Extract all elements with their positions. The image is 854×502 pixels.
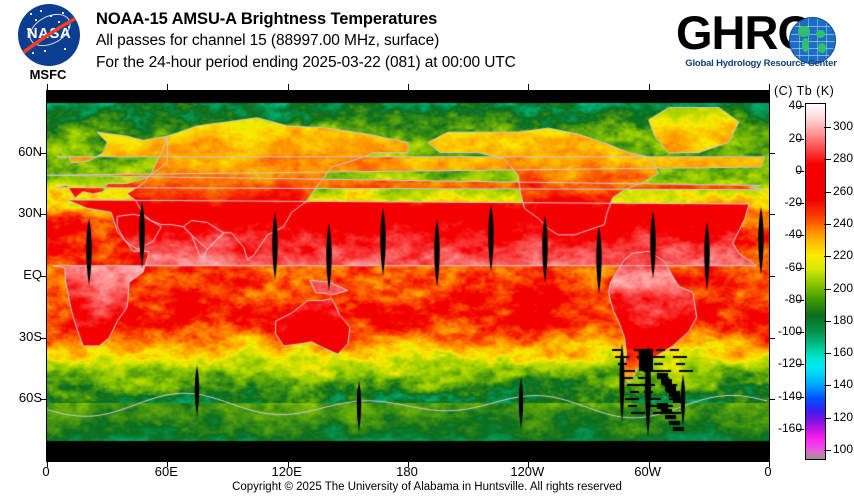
colorbar-label-kelvin: 260 bbox=[833, 184, 854, 198]
map-plot-frame[interactable] bbox=[46, 90, 770, 462]
copyright-notice: Copyright © 2025 The University of Alaba… bbox=[0, 481, 854, 493]
period-subtitle: For the 24-hour period ending 2025-03-22… bbox=[96, 52, 656, 74]
x-axis-label: 0 bbox=[16, 464, 76, 479]
x-axis-label: 60W bbox=[618, 464, 678, 479]
x-axis-label: 120E bbox=[257, 464, 317, 479]
colorbar-label-celsius: 0 bbox=[764, 163, 802, 177]
colorbar-label-kelvin: 180 bbox=[833, 313, 854, 327]
x-axis-tick bbox=[167, 84, 168, 90]
colorbar-tick-kelvin bbox=[824, 192, 831, 193]
colorbar-label-kelvin: 240 bbox=[833, 216, 854, 230]
colorbar-tick-kelvin bbox=[824, 224, 831, 225]
colorbar-tick-kelvin bbox=[824, 353, 831, 354]
nasa-logo: NASA MSFC bbox=[10, 4, 86, 84]
colorbar-label-celsius: -160 bbox=[764, 421, 802, 435]
colorbar-tick-kelvin bbox=[824, 127, 831, 128]
colorbar-label-kelvin: 200 bbox=[833, 281, 854, 295]
globe-icon bbox=[789, 17, 836, 64]
colorbar-label-celsius: -60 bbox=[764, 260, 802, 274]
colorbar-tick-kelvin bbox=[824, 418, 831, 419]
nasa-meatball-icon: NASA bbox=[18, 4, 80, 66]
colorbar-label-kelvin: 140 bbox=[833, 377, 854, 391]
colorbar-label-celsius: -40 bbox=[764, 227, 802, 241]
colorbar-label-celsius: -140 bbox=[764, 389, 802, 403]
x-axis-label: 120W bbox=[497, 464, 557, 479]
colorbar-label-celsius: -20 bbox=[764, 195, 802, 209]
colorbar-tick-kelvin bbox=[824, 159, 831, 160]
ghrc-logo: GHRC Global Hydrology Resource Center bbox=[676, 6, 844, 78]
colorbar-tick-kelvin bbox=[824, 321, 831, 322]
msfc-label: MSFC bbox=[10, 67, 86, 82]
y-axis-tick bbox=[769, 153, 775, 154]
y-axis-label: 60S bbox=[0, 390, 42, 405]
y-axis-label: 30S bbox=[0, 329, 42, 344]
x-axis-tick bbox=[528, 84, 529, 90]
brightness-temperature-map[interactable] bbox=[47, 91, 769, 461]
page-title: NOAA-15 AMSU-A Brightness Temperatures bbox=[96, 9, 656, 30]
x-axis-label: 60E bbox=[136, 464, 196, 479]
colorbar-label-kelvin: 160 bbox=[833, 345, 854, 359]
y-axis-label: EQ bbox=[0, 267, 42, 282]
colorbar-label-kelvin: 100 bbox=[833, 442, 854, 456]
colorbar-label-kelvin: 300 bbox=[833, 119, 854, 133]
x-axis-tick bbox=[47, 84, 48, 90]
y-axis-tick bbox=[40, 276, 46, 277]
y-axis-labels: 60N30NEQ30S60S bbox=[0, 90, 42, 460]
y-axis-tick bbox=[40, 214, 46, 215]
colorbar-header: (C) Tb (K) bbox=[774, 84, 854, 98]
colorbar-label-celsius: 40 bbox=[764, 98, 802, 112]
colorbar-label-celsius: -80 bbox=[764, 292, 802, 306]
colorbar-gradient[interactable] bbox=[805, 103, 826, 460]
x-axis-tick bbox=[769, 84, 770, 90]
colorbar-label-celsius: 20 bbox=[764, 131, 802, 145]
y-axis-tick bbox=[769, 276, 775, 277]
title-block: NOAA-15 AMSU-A Brightness Temperatures A… bbox=[96, 9, 656, 74]
page-header: NASA MSFC NOAA-15 AMSU-A Brightness Temp… bbox=[0, 0, 854, 88]
colorbar-tick-kelvin bbox=[824, 385, 831, 386]
nasa-swoosh-icon bbox=[18, 10, 80, 62]
colorbar-label-kelvin: 280 bbox=[833, 151, 854, 165]
channel-subtitle: All passes for channel 15 (88997.00 MHz,… bbox=[96, 30, 656, 52]
colorbar-label-celsius: -120 bbox=[764, 356, 802, 370]
colorbar-label-kelvin: 120 bbox=[833, 410, 854, 424]
x-axis-label: 180 bbox=[377, 464, 437, 479]
colorbar-tick-kelvin bbox=[824, 256, 831, 257]
colorbar-block: (C) Tb (K) 40200-20-40-60-80-100-120-140… bbox=[778, 84, 854, 469]
y-axis-tick bbox=[40, 399, 46, 400]
colorbar-tick-kelvin bbox=[824, 450, 831, 451]
colorbar-label-kelvin: 220 bbox=[833, 248, 854, 262]
ghrc-tagline: Global Hydrology Resource Center bbox=[678, 58, 844, 69]
y-axis-tick bbox=[769, 214, 775, 215]
x-axis-tick bbox=[288, 84, 289, 90]
colorbar-tick-kelvin bbox=[824, 289, 831, 290]
y-axis-label: 30N bbox=[0, 205, 42, 220]
y-axis-label: 60N bbox=[0, 144, 42, 159]
x-axis-tick bbox=[649, 84, 650, 90]
x-axis-tick bbox=[408, 84, 409, 90]
colorbar-label-celsius: -100 bbox=[764, 324, 802, 338]
y-axis-tick bbox=[40, 338, 46, 339]
y-axis-tick bbox=[40, 153, 46, 154]
